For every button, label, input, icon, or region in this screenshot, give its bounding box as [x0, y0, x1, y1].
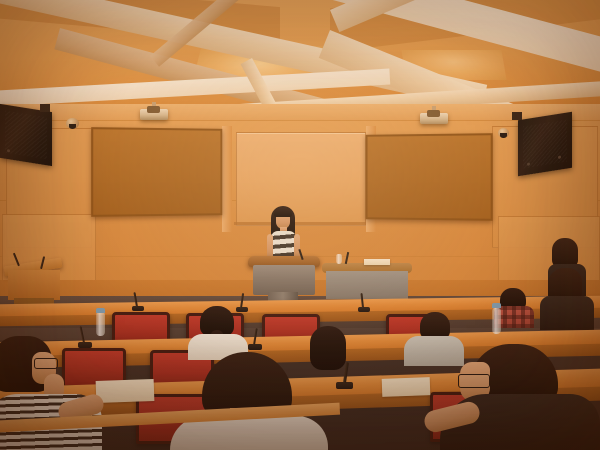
side-table-papers [364, 259, 390, 265]
right-slide [371, 139, 494, 140]
left-speaker-mount [40, 104, 50, 112]
wall-pilaster-left [222, 126, 232, 232]
left-slide-photo [104, 133, 137, 134]
left-slide-topbar [101, 133, 220, 134]
right-speaker-mount [512, 112, 522, 120]
right-slide-thumbnail [469, 139, 490, 140]
left-speaker [0, 104, 52, 166]
left-dome-camera [66, 118, 79, 129]
right-dome-camera [498, 128, 509, 138]
left-projection-screen[interactable] [91, 127, 222, 217]
right-speaker [518, 112, 572, 177]
right-speaker-grill [523, 119, 566, 168]
left-camera-lens [69, 124, 76, 129]
left-slide [97, 133, 224, 134]
student-p8 [540, 268, 596, 330]
left-projector-lens [147, 106, 160, 113]
left-screen-surface [97, 133, 224, 134]
bottle-1-cap [96, 308, 105, 313]
mic-base-r1-1 [132, 306, 144, 311]
left-projector [140, 109, 168, 120]
student-p4 [170, 352, 330, 450]
podium-body [253, 265, 315, 295]
student-p5 [418, 344, 600, 450]
mic-base-r2-2 [248, 344, 262, 350]
right-screen-surface [371, 139, 494, 140]
right-projection-screen[interactable] [366, 133, 493, 221]
bottle-2 [492, 308, 501, 334]
right-camera-lens [500, 133, 506, 138]
side-table-body [326, 271, 408, 299]
side-table-cup [336, 254, 342, 264]
wall-seam-top [0, 120, 600, 121]
left-speaker-grill [5, 111, 47, 159]
right-slide-topbar [375, 139, 491, 140]
right-projector-lens [427, 110, 440, 117]
left-speaker-screw [7, 149, 10, 152]
lecture-hall-photo [0, 0, 600, 450]
right-projector [420, 113, 448, 124]
bottle-2-cap [492, 303, 501, 308]
bottle-1 [96, 312, 105, 336]
presenter-hair-front [274, 208, 292, 217]
student-p5-glasses [458, 374, 490, 388]
student-p1-glasses [34, 358, 58, 369]
student-p1 [0, 336, 114, 450]
mic-base-r1-3 [358, 307, 370, 312]
student-p8-top [540, 296, 594, 330]
wall-upper-band [0, 104, 600, 120]
lectern-body [8, 270, 60, 300]
